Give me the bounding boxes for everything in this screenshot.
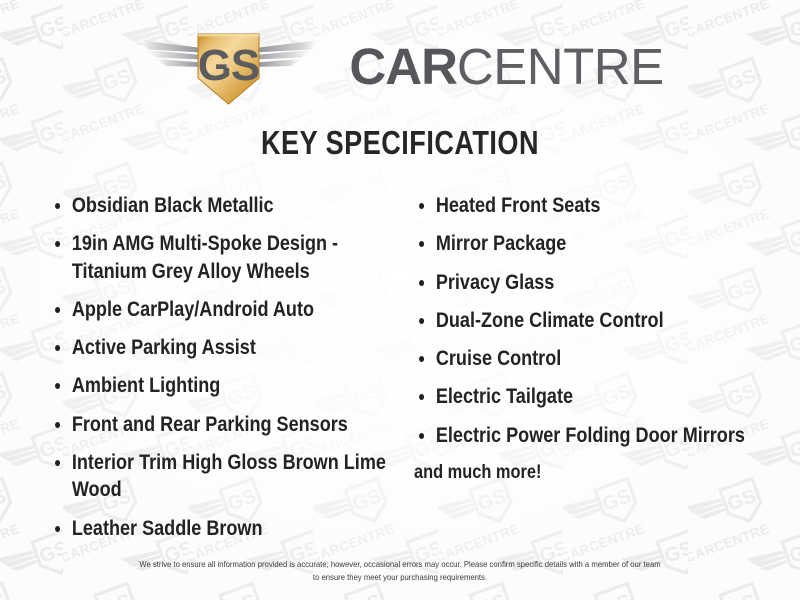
footer-disclaimer: We strive to ensure all information prov… bbox=[137, 558, 663, 585]
logo-wing-right bbox=[255, 40, 319, 67]
spec-list-item: Front and Rear Parking Sensors bbox=[50, 411, 414, 438]
gs-winged-shield-logo: GS bbox=[136, 26, 321, 108]
brand-header: GS CARCENTRE bbox=[0, 26, 800, 108]
spec-list-item: Apple CarPlay/Android Auto bbox=[50, 296, 414, 323]
page-title: KEY SPECIFICATION bbox=[72, 124, 728, 162]
spec-list-item: Interior Trim High Gloss Brown Lime Wood bbox=[50, 449, 414, 504]
logo-wing-left bbox=[138, 40, 202, 67]
spec-list-item: Cruise Control bbox=[414, 345, 800, 372]
spec-list-left: Obsidian Black Metallic19in AMG Multi-Sp… bbox=[50, 192, 392, 542]
wordmark-centre: CENTRE bbox=[457, 38, 664, 95]
spec-list-item: Privacy Glass bbox=[414, 269, 800, 296]
spec-list-item: Active Parking Assist bbox=[50, 334, 414, 361]
brand-wordmark: CARCENTRE bbox=[349, 41, 663, 92]
spec-list-item: Obsidian Black Metallic bbox=[50, 192, 414, 219]
specification-columns: Obsidian Black Metallic19in AMG Multi-Sp… bbox=[0, 192, 800, 542]
spec-list-item: Dual-Zone Climate Control bbox=[414, 307, 800, 334]
specification-page: GS CARCENTRE bbox=[0, 0, 800, 600]
spec-list-item: Mirror Package bbox=[414, 230, 800, 257]
closing-note: and much more! bbox=[414, 460, 792, 484]
spec-list-item: Electric Power Folding Door Mirrors bbox=[414, 422, 800, 449]
spec-list-item: Electric Tailgate bbox=[414, 383, 800, 410]
spec-list-item: Ambient Lighting bbox=[50, 372, 414, 399]
spec-column-right: Heated Front SeatsMirror PackagePrivacy … bbox=[400, 192, 800, 484]
spec-list-right: Heated Front SeatsMirror PackagePrivacy … bbox=[414, 192, 792, 449]
spec-list-item: 19in AMG Multi-Spoke Design - Titanium G… bbox=[50, 230, 414, 285]
spec-column-left: Obsidian Black Metallic19in AMG Multi-Sp… bbox=[0, 192, 400, 553]
spec-list-item: Heated Front Seats bbox=[414, 192, 800, 219]
spec-list-item: Leather Saddle Brown bbox=[50, 515, 414, 542]
wordmark-car: CAR bbox=[349, 38, 457, 95]
